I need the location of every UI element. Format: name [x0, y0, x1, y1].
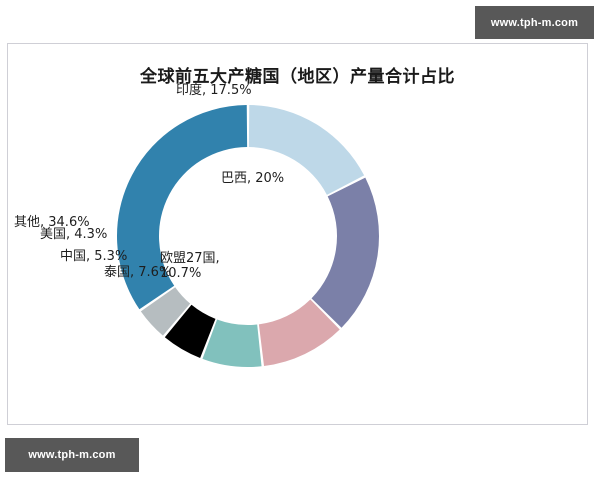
slice-label-brazil-text: 巴西, 20%: [221, 171, 284, 186]
watermark-top-text: www.tph-m.com: [491, 17, 578, 29]
donut-slice-group: [117, 105, 379, 367]
slice-label-brazil: 巴西, 20%: [221, 172, 284, 187]
watermark-top: www.tph-m.com: [475, 6, 594, 39]
slice-label-other-text: 其他, 34.6%: [14, 215, 90, 230]
slice-label-thailand-text: 泰国, 7.6%: [104, 265, 171, 280]
slice-label-china-text: 中国, 5.3%: [60, 249, 127, 264]
donut-chart: 印度, 17.5% 巴西, 20% 欧盟27国, 10.7% 泰国, 7.6% …: [8, 44, 589, 426]
slice-label-thailand: 泰国, 7.6%: [104, 266, 171, 281]
chart-panel: 全球前五大产糖国（地区）产量合计占比 印度, 17.5% 巴西, 20% 欧盟2…: [7, 43, 588, 425]
slice-label-other: 其他, 34.6%: [14, 216, 90, 231]
slice-label-india: 印度, 17.5%: [176, 84, 252, 99]
slice-label-china: 中国, 5.3%: [60, 250, 127, 265]
watermark-bottom: www.tph-m.com: [5, 438, 139, 472]
donut-slice-2[interactable]: [312, 178, 379, 328]
slice-label-india-text: 印度, 17.5%: [176, 83, 252, 98]
watermark-bottom-text: www.tph-m.com: [28, 449, 115, 461]
